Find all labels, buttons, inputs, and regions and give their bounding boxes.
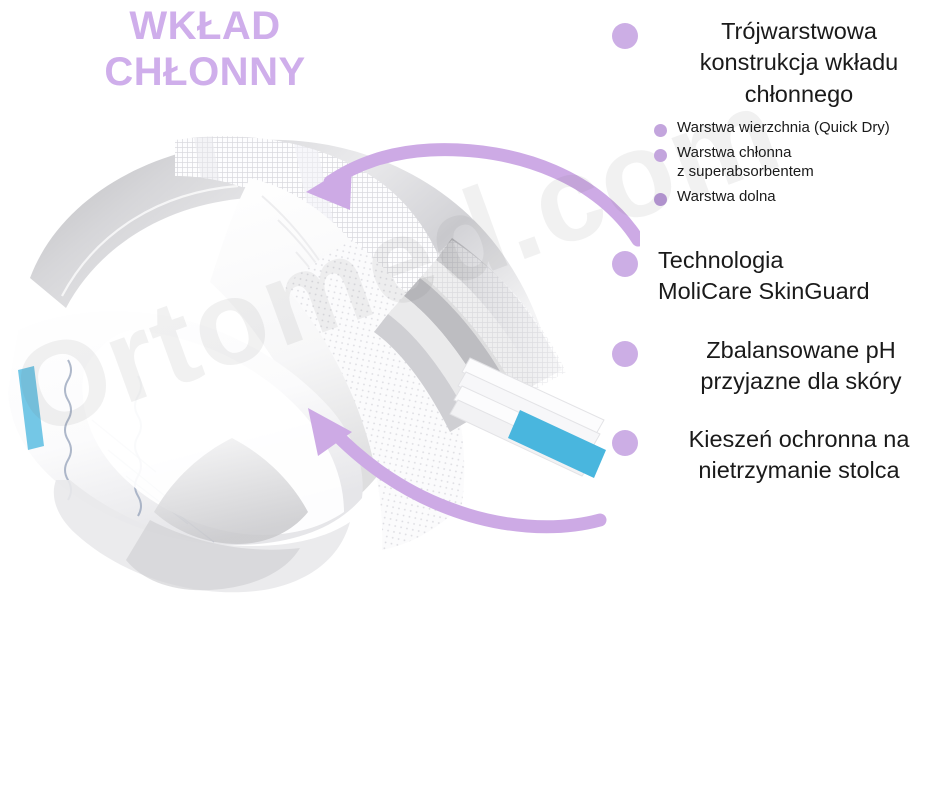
sub-item-label: Warstwa wierzchnia (Quick Dry) [677,118,940,137]
sub-item-label: Warstwa dolna [677,187,940,206]
sub-bullet-dot-icon [654,149,667,162]
feature-item-balanced-ph[interactable]: Zbalansowane pH przyjazne dla skóry [612,335,940,398]
bullet-dot-icon [612,430,638,456]
bullet-dot-icon [612,341,638,367]
sub-item-label: Warstwa chłonna z superabsorbentem [677,143,940,181]
infographic-canvas: WKŁAD CHŁONNY Ortomed.com [0,0,940,788]
sub-bullet-dot-icon [654,193,667,206]
sub-item-core-layer[interactable]: Warstwa chłonna z superabsorbentem [654,143,940,181]
feature-label: Kieszeń ochronna na nietrzymanie stolca [658,424,940,487]
brief-illustration [0,120,620,630]
page-title: WKŁAD CHŁONNY [40,4,370,95]
feature-item-skinguard-technology[interactable]: Technologia MoliCare SkinGuard [612,245,940,308]
feature-item-stool-pocket[interactable]: Kieszeń ochronna na nietrzymanie stolca [612,424,940,487]
sub-item-top-layer[interactable]: Warstwa wierzchnia (Quick Dry) [654,118,940,137]
feature-label: Technologia MoliCare SkinGuard [658,245,940,308]
sub-item-bottom-layer[interactable]: Warstwa dolna [654,187,940,206]
feature-label: Trójwarstwowa konstrukcja wkładu chłonne… [658,16,940,110]
sub-bullet-dot-icon [654,124,667,137]
product-image [0,120,620,630]
bullet-dot-icon [612,251,638,277]
bullet-dot-icon [612,23,638,49]
feature-label: Zbalansowane pH przyjazne dla skóry [662,335,940,398]
layer-sub-list: Warstwa wierzchnia (Quick Dry) Warstwa c… [654,118,940,207]
feature-list: Trójwarstwowa konstrukcja wkładu chłonne… [612,8,940,488]
feature-item-three-layer-construction[interactable]: Trójwarstwowa konstrukcja wkładu chłonne… [612,16,940,110]
